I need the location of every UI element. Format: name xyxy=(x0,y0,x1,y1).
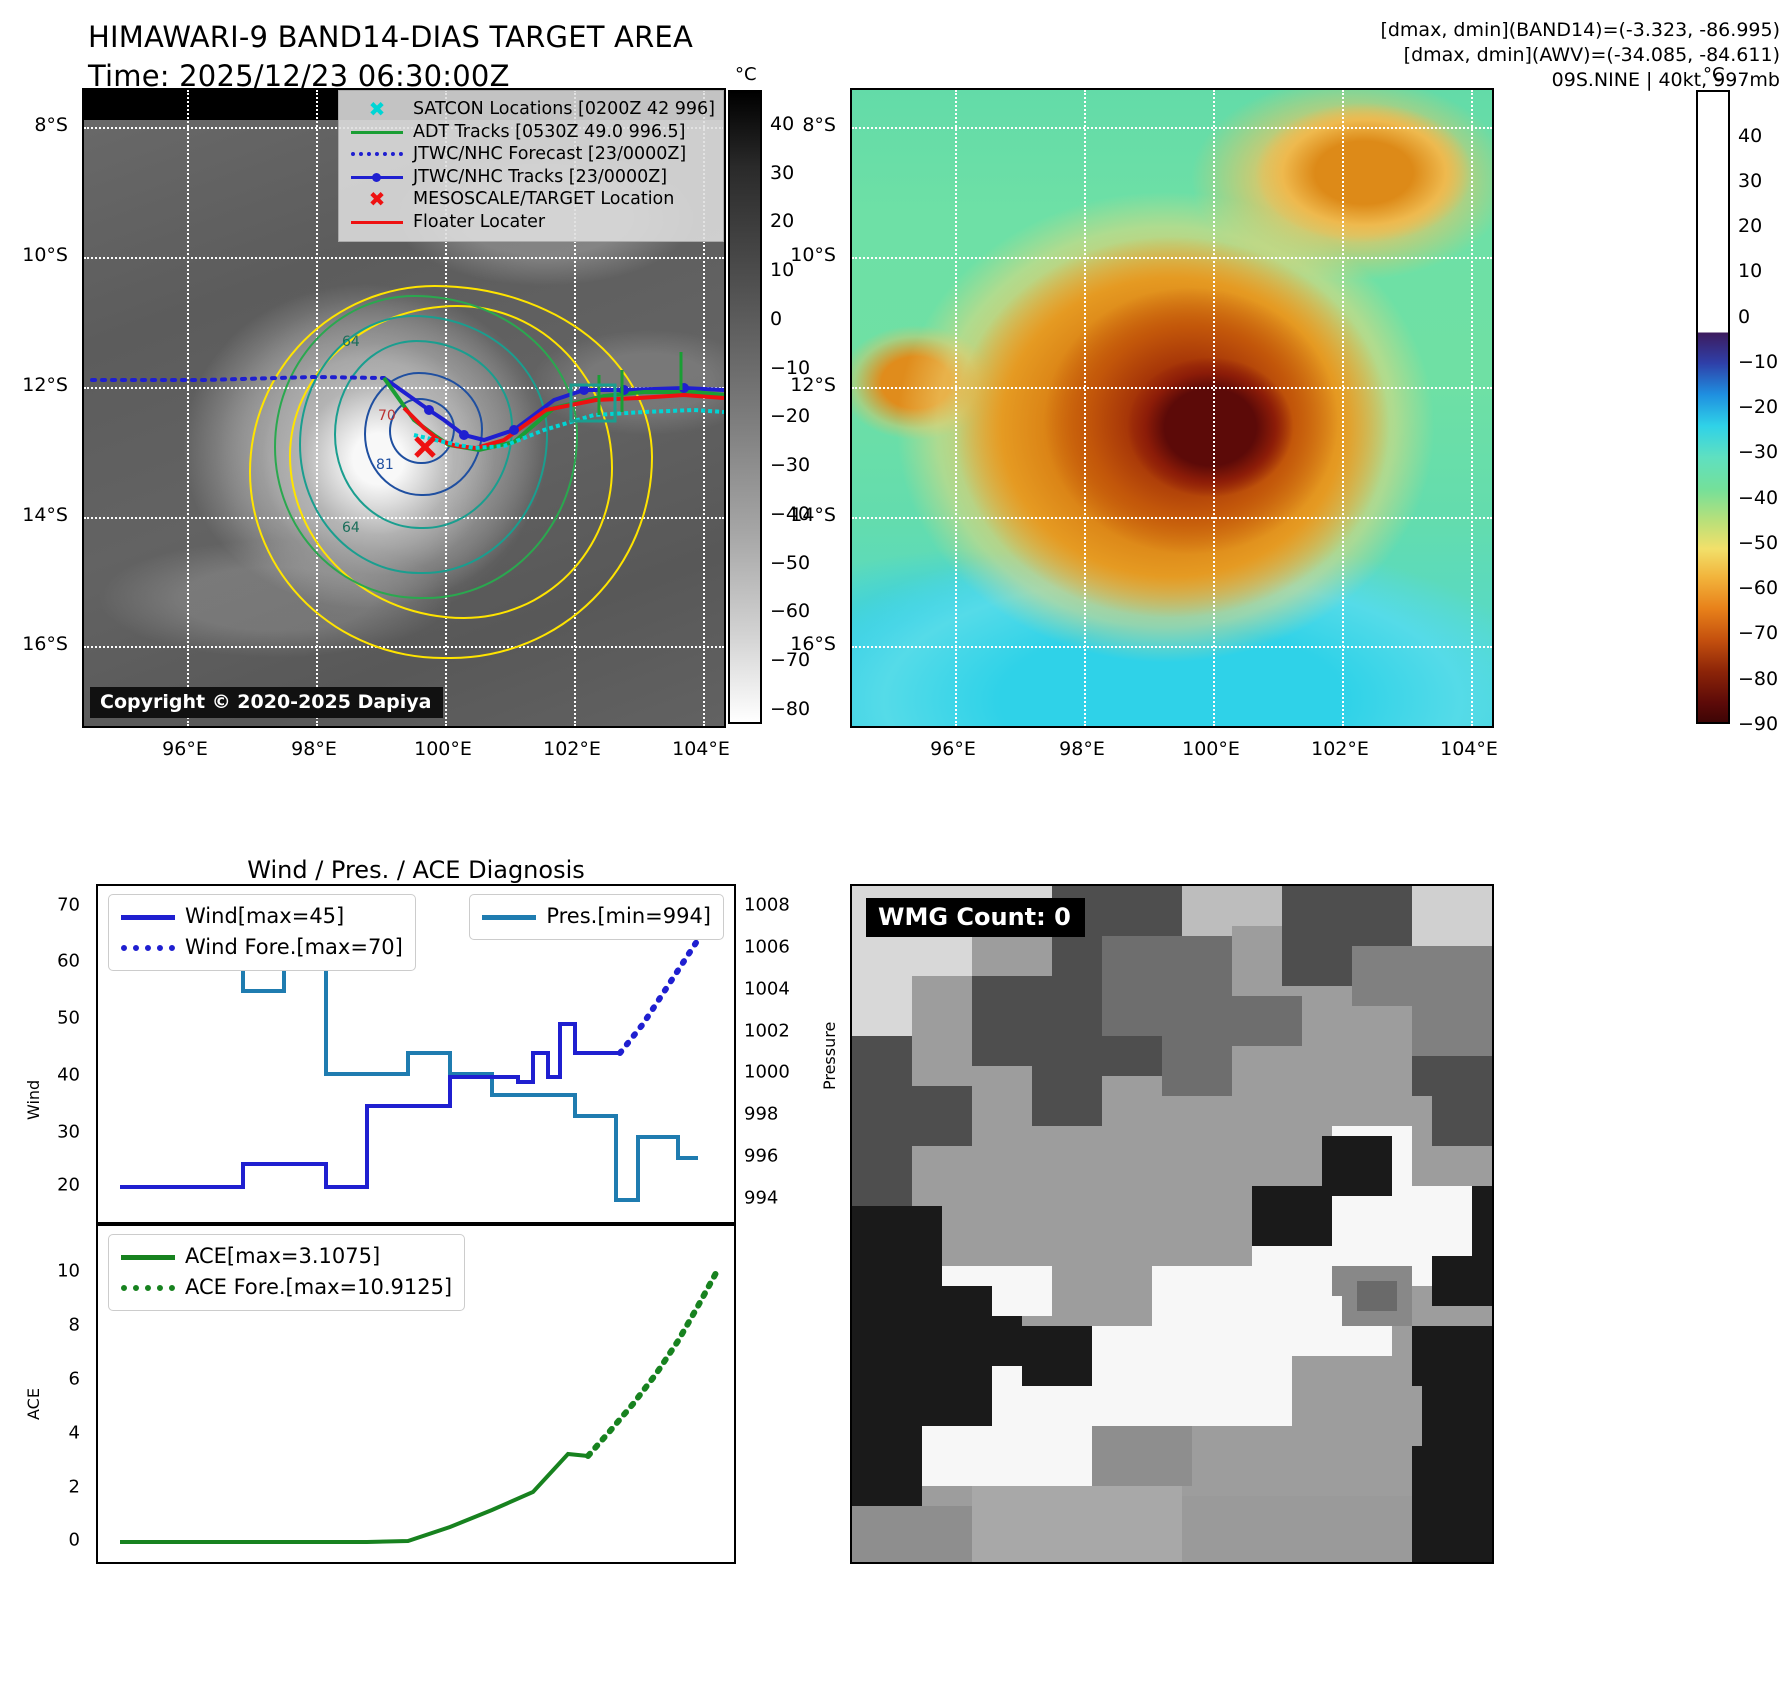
satcon-x-icon: ✖ xyxy=(349,99,405,119)
legend-item-jtwc-tracks: JTWC/NHC Tracks [23/0000Z] xyxy=(349,166,715,189)
awv-gridline-lon-104 xyxy=(1471,90,1473,726)
awv-colorbar-gradient xyxy=(1696,90,1730,724)
legend-label-wind: Wind[max=45] xyxy=(185,901,344,932)
map-legend: ✖ SATCON Locations [0200Z 42 996] ADT Tr… xyxy=(338,90,724,242)
awv-gridline-lon-96 xyxy=(955,90,957,726)
legend-label-ace: ACE[max=3.1075] xyxy=(185,1241,380,1272)
wind-solid-line-icon xyxy=(117,906,179,928)
awv-gridline-lon-100 xyxy=(1213,90,1215,726)
legend-item-pressure: Pres.[min=994] xyxy=(478,901,711,932)
dmax-band14: [dmax, dmin](BAND14)=(-3.323, -86.995) xyxy=(1380,18,1780,43)
legend-label-satcon: SATCON Locations [0200Z 42 996] xyxy=(413,98,715,121)
pressure-legend: Pres.[min=994] xyxy=(469,894,724,940)
awv-gridline-lat-10 xyxy=(852,257,1492,259)
awv-colorbar-unit: °C xyxy=(1703,64,1725,85)
mesoscale-target-marker xyxy=(416,438,434,456)
awv-gridline-lat-14 xyxy=(852,517,1492,519)
legend-label-adt: ADT Tracks [0530Z 49.0 996.5] xyxy=(413,121,686,144)
pressure-y-ticks: 1008 1006 1004 1002 1000 998 996 994 xyxy=(744,884,824,1224)
awv-colorbar-ticks: 40 30 20 10 0 −10 −20 −30 −40 −50 −60 −7… xyxy=(1738,90,1788,724)
wind-axis-label: Wind xyxy=(24,1080,43,1120)
wind-pressure-chart[interactable]: Wind[max=45] Wind Fore.[max=70] Pres.[mi… xyxy=(96,884,736,1224)
dashboard-page: HIMAWARI-9 BAND14-DIAS TARGET AREA Time:… xyxy=(0,0,1788,1690)
wind-forecast-dotted-icon xyxy=(117,937,179,959)
wind-line xyxy=(120,1024,620,1187)
legend-item-wind-forecast: Wind Fore.[max=70] xyxy=(117,932,403,963)
ir-colorbar-unit: °C xyxy=(735,64,757,85)
legend-item-adt: ADT Tracks [0530Z 49.0 996.5] xyxy=(349,121,715,144)
ace-forecast-line xyxy=(588,1273,716,1456)
awv-lat-ticks: 8°S 10°S 12°S 14°S 16°S xyxy=(768,88,844,728)
ir-lat-ticks: 8°S 10°S 12°S 14°S 16°S xyxy=(0,88,76,728)
ace-line xyxy=(120,1454,588,1542)
wmg-map[interactable]: WMG Count: 0 xyxy=(850,884,1494,1564)
legend-label-jtwc-tracks: JTWC/NHC Tracks [23/0000Z] xyxy=(413,166,667,189)
wmg-count-badge: WMG Count: 0 xyxy=(866,898,1085,937)
awv-gridline-lat-8 xyxy=(852,127,1492,129)
legend-label-jtwc-forecast: JTWC/NHC Forecast [23/0000Z] xyxy=(413,143,686,166)
awv-gridline-lon-98 xyxy=(1084,90,1086,726)
title-line: HIMAWARI-9 BAND14-DIAS TARGET AREA xyxy=(88,18,693,57)
legend-label-ace-forecast: ACE Fore.[max=10.9125] xyxy=(185,1272,452,1303)
wind-legend: Wind[max=45] Wind Fore.[max=70] xyxy=(108,894,416,971)
wind-y-ticks: 70 60 50 40 30 20 xyxy=(10,884,90,1224)
pressure-solid-line-icon xyxy=(478,906,540,928)
awv-gridline-lat-16 xyxy=(852,646,1492,648)
awv-imagery xyxy=(852,90,1492,726)
pressure-axis-label: Pressure xyxy=(820,1022,839,1090)
jtwc-forecast-dotted-icon xyxy=(349,144,405,164)
floater-locater-track xyxy=(404,395,724,448)
satcon-track xyxy=(414,410,724,448)
awv-satellite-map[interactable] xyxy=(850,88,1494,728)
ace-axis-label: ACE xyxy=(24,1388,43,1420)
legend-item-satcon: ✖ SATCON Locations [0200Z 42 996] xyxy=(349,98,715,121)
awv-gridline-lon-102 xyxy=(1342,90,1344,726)
jtwc-track-line-dot-icon xyxy=(349,167,405,187)
floater-line-icon xyxy=(349,212,405,232)
awv-gridline-lat-12 xyxy=(852,387,1492,389)
legend-item-ace: ACE[max=3.1075] xyxy=(117,1241,452,1272)
ace-legend: ACE[max=3.1075] ACE Fore.[max=10.9125] xyxy=(108,1234,465,1311)
page-title: HIMAWARI-9 BAND14-DIAS TARGET AREA Time:… xyxy=(88,18,693,96)
ace-forecast-dotted-icon xyxy=(117,1277,179,1299)
mesoscale-x-icon: ✖ xyxy=(349,189,405,209)
legend-item-mesoscale: ✖ MESOSCALE/TARGET Location xyxy=(349,188,715,211)
jtwc-forecast-track xyxy=(92,377,384,380)
legend-label-wind-forecast: Wind Fore.[max=70] xyxy=(185,932,403,963)
legend-item-floater: Floater Locater xyxy=(349,211,715,234)
legend-item-ace-forecast: ACE Fore.[max=10.9125] xyxy=(117,1272,452,1303)
ace-y-ticks: 10 8 6 4 2 0 xyxy=(10,1224,90,1564)
ir-satellite-map[interactable]: 64 70 81 64 xyxy=(82,88,726,728)
ace-chart[interactable]: ACE[max=3.1075] ACE Fore.[max=10.9125] xyxy=(96,1224,736,1564)
legend-item-jtwc-forecast: JTWC/NHC Forecast [23/0000Z] xyxy=(349,143,715,166)
copyright-badge: Copyright © 2020-2025 Dapiya xyxy=(90,687,443,718)
wmg-imagery xyxy=(852,886,1492,1562)
legend-label-mesoscale: MESOSCALE/TARGET Location xyxy=(413,188,674,211)
ir-colorbar-gradient xyxy=(728,90,762,724)
legend-label-floater: Floater Locater xyxy=(413,211,545,234)
legend-item-wind: Wind[max=45] xyxy=(117,901,403,932)
diagnosis-title: Wind / Pres. / ACE Diagnosis xyxy=(96,856,736,884)
legend-label-pressure: Pres.[min=994] xyxy=(546,901,711,932)
adt-line-icon xyxy=(349,122,405,142)
ace-solid-line-icon xyxy=(117,1246,179,1268)
